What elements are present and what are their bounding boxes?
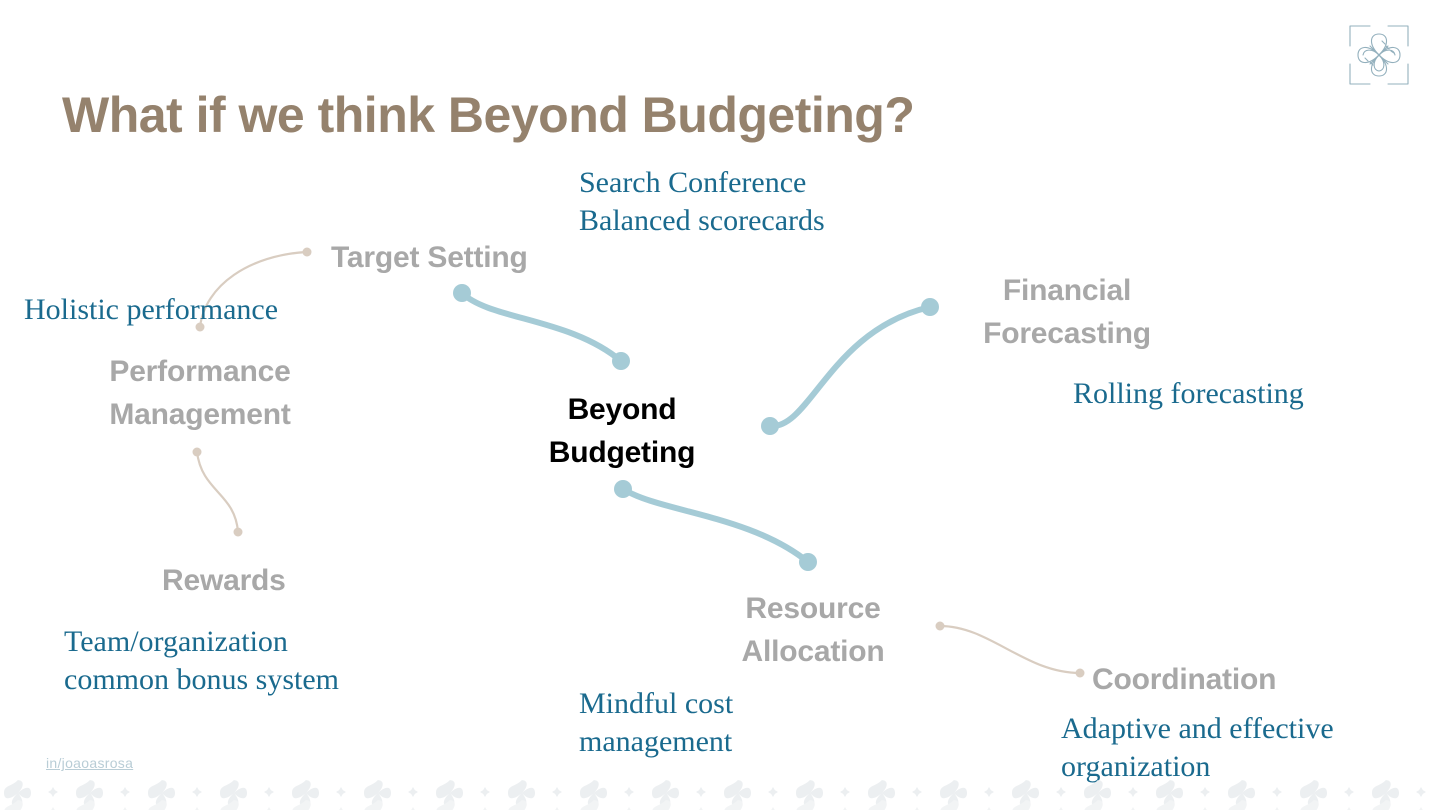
annotation-performance-management: Holistic performance	[24, 291, 278, 329]
node-financial-forecasting[interactable]: Financial Forecasting	[962, 270, 1172, 355]
node-target-setting[interactable]: Target Setting	[331, 237, 528, 280]
slide-canvas: What if we think Beyond Budgeting?	[0, 0, 1440, 810]
node-beyond-budgeting-center[interactable]: Beyond Budgeting	[508, 389, 736, 474]
annotation-rewards: Team/organization common bonus system	[64, 623, 339, 699]
annotation-target-setting: Search Conference Balanced scorecards	[579, 164, 825, 240]
node-resource-allocation[interactable]: Resource Allocation	[722, 588, 904, 673]
annotation-resource-allocation: Mindful cost management	[579, 685, 733, 761]
node-coordination[interactable]: Coordination	[1092, 659, 1276, 702]
pinwheel-flower-logo-icon	[1348, 24, 1410, 86]
connector-resource-to-coordination	[936, 622, 1085, 678]
node-performance-management[interactable]: Performance Management	[80, 351, 320, 436]
annotation-financial-forecasting: Rolling forecasting	[1073, 375, 1304, 413]
annotation-coordination: Adaptive and effective organization	[1061, 710, 1334, 786]
node-rewards[interactable]: Rewards	[162, 560, 286, 603]
decorative-bottom-border	[0, 776, 1440, 810]
connector-center-to-resource	[614, 480, 817, 571]
connector-performance-to-rewards	[193, 448, 243, 537]
connector-center-to-financial	[761, 298, 939, 435]
linkedin-profile-link[interactable]: in/joaoasrosa	[46, 755, 133, 771]
page-title: What if we think Beyond Budgeting?	[62, 86, 914, 144]
connector-target-to-center	[453, 284, 630, 370]
